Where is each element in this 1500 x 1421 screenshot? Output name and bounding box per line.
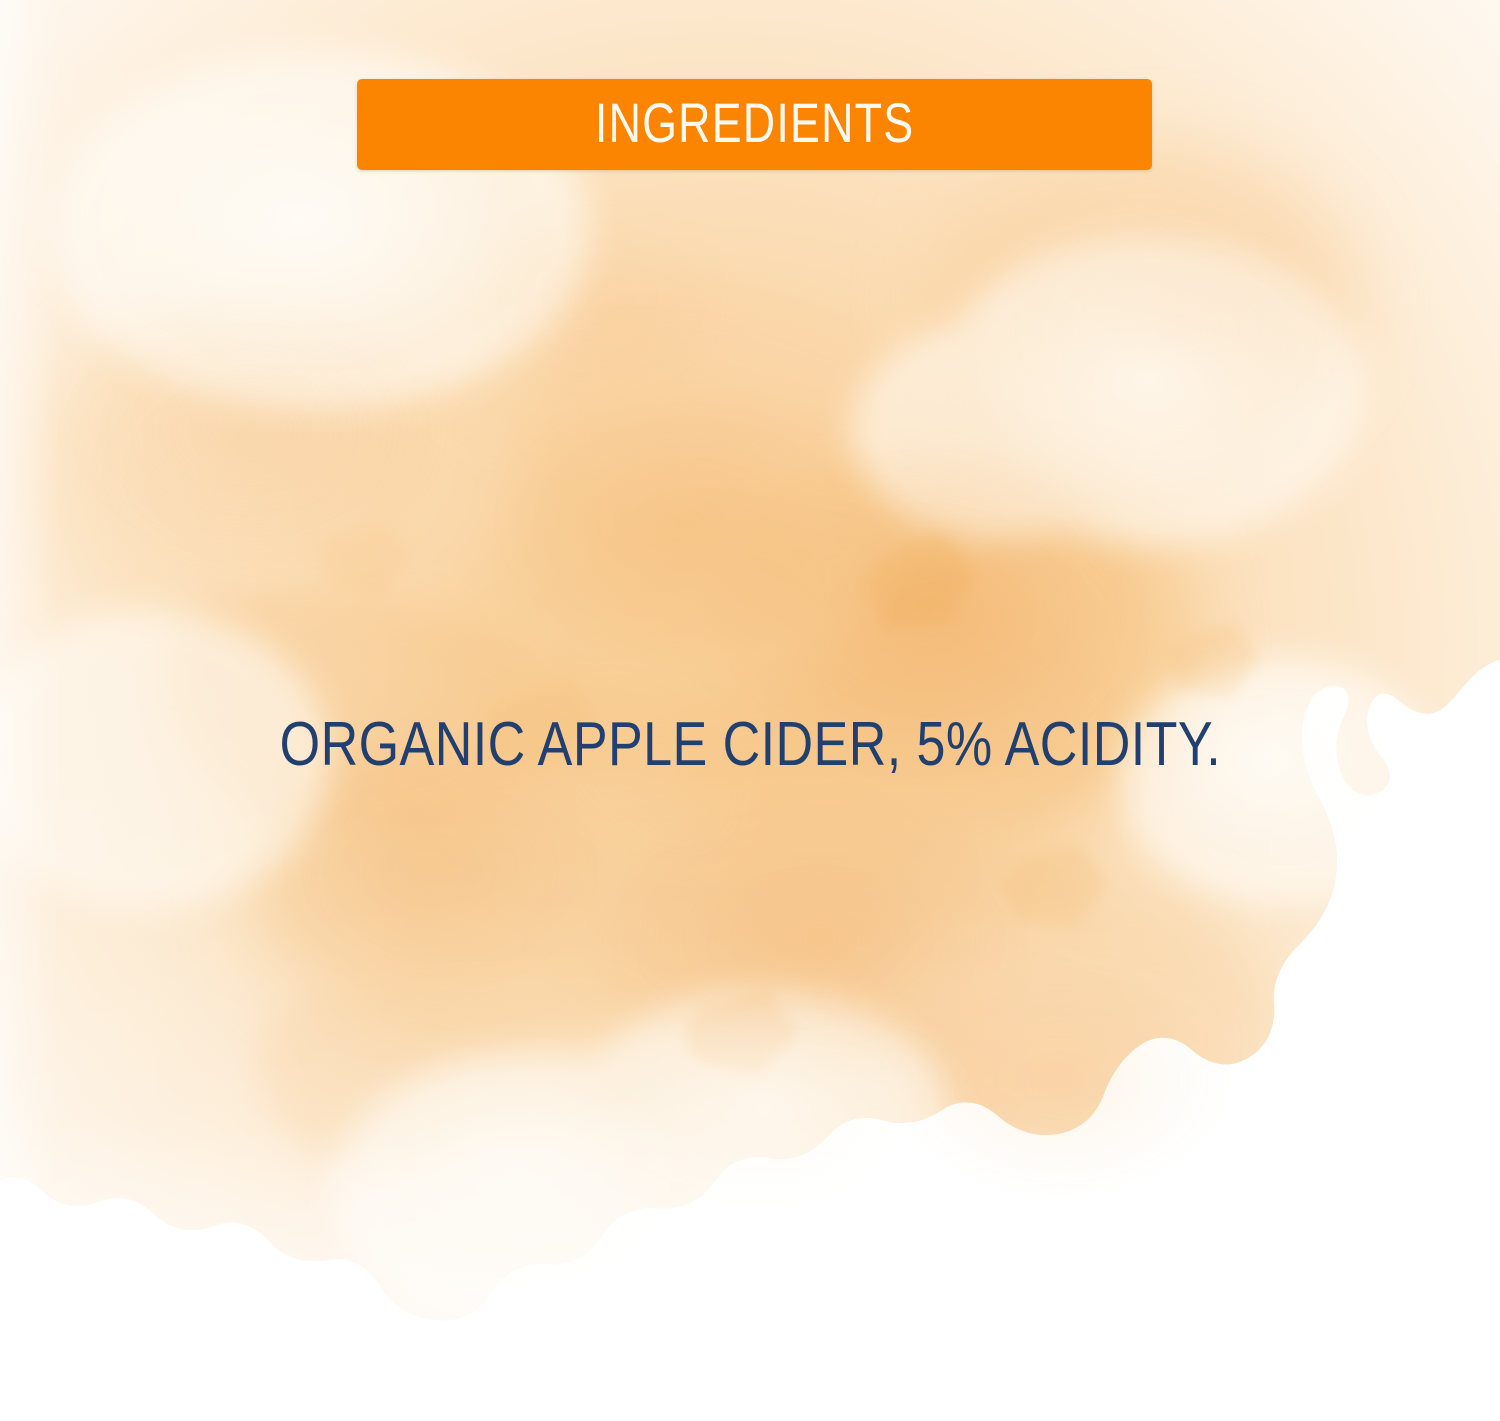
ingredients-list-text: ORGANIC APPLE CIDER, 5% ACIDITY.	[279, 714, 1221, 776]
ingredients-banner-title: INGREDIENTS	[595, 95, 914, 154]
ingredients-text-row: ORGANIC APPLE CIDER, 5% ACIDITY.	[0, 714, 1500, 776]
ingredients-banner: INGREDIENTS	[357, 79, 1152, 170]
ingredients-panel: INGREDIENTS ORGANIC APPLE CIDER, 5% ACID…	[0, 0, 1500, 1421]
